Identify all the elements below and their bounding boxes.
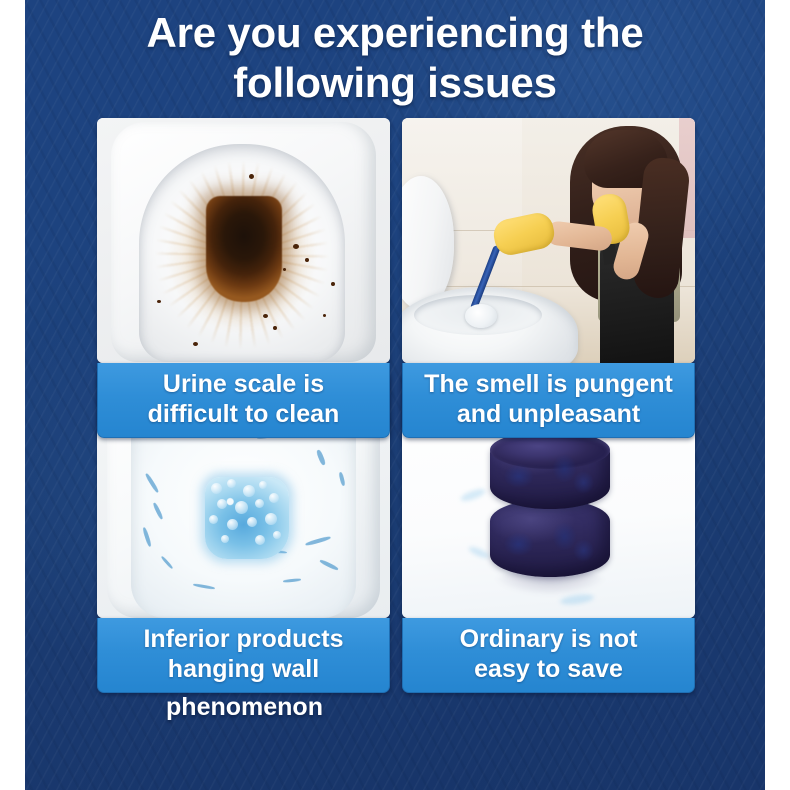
background-smudge [468, 545, 491, 560]
foam-bubble [269, 493, 279, 503]
foam-bubble [211, 483, 222, 494]
issue-card-bad-smell[interactable]: The smell is pungent and unpleasant [402, 118, 695, 363]
issue-card-grid: Urine scale is difficult to clean [97, 118, 695, 780]
stain-spot [273, 326, 277, 330]
stain-spot [331, 282, 335, 286]
cleaner-tablet-bottom [490, 499, 610, 577]
card-caption-bad-smell: The smell is pungent and unpleasant [402, 363, 695, 438]
headline-line-1: Are you experiencing the [25, 8, 765, 58]
foam-bubble [227, 519, 238, 530]
foam-bubble [217, 499, 227, 509]
foam-bubble [259, 481, 267, 489]
background-smudge [560, 593, 595, 607]
stain-spot [193, 342, 198, 346]
caption-line-2: easy to save [407, 654, 690, 684]
foam-bubble [235, 501, 248, 514]
headline-line-2: following issues [25, 58, 765, 108]
foam-bubble [247, 517, 257, 527]
stain-spot [305, 258, 309, 262]
caption-line-1: The smell is pungent [407, 369, 690, 399]
caption-line-1: Inferior products [102, 624, 385, 654]
foam-bubble [227, 479, 236, 488]
caption-line-1: Urine scale is [102, 369, 385, 399]
foam-bubble [273, 531, 281, 539]
card-caption-not-economical: Ordinary is not easy to save [402, 618, 695, 693]
card-caption-hanging-wall: Inferior products hanging wall phenomeno… [97, 618, 390, 693]
brown-urine-stain [206, 196, 282, 302]
caption-line-1: Ordinary is not [407, 624, 690, 654]
stained-toilet-bowl-photo [97, 118, 390, 363]
woman-holding-nose-photo [402, 118, 695, 363]
foam-bubble [209, 515, 218, 524]
toilet-brush-head [465, 304, 497, 328]
caption-line-2: difficult to clean [102, 399, 385, 429]
caption-line-2: hanging wall [102, 654, 385, 684]
caption-line-2: and unpleasant [407, 399, 690, 429]
issue-card-urine-scale[interactable]: Urine scale is difficult to clean [97, 118, 390, 363]
background-smudge [459, 487, 486, 503]
tablet-texture [490, 499, 610, 577]
foam-bubble [265, 513, 277, 525]
stain-spot [263, 314, 268, 318]
caption-overflow-line: phenomenon [98, 692, 391, 722]
stain-spot [293, 244, 299, 249]
stain-spot [283, 268, 286, 271]
stain-spot [249, 174, 254, 179]
foam-bubble [221, 535, 229, 543]
foam-bubble [243, 485, 255, 497]
stain-spot [323, 314, 326, 317]
card-caption-urine-scale: Urine scale is difficult to clean [97, 363, 390, 438]
promotional-poster: Are you experiencing the following issue… [0, 0, 790, 790]
page-title: Are you experiencing the following issue… [25, 8, 765, 108]
stain-spot [157, 300, 161, 303]
cleaner-tablet-top [490, 431, 610, 509]
foam-bubble [255, 499, 264, 508]
foam-bubble [255, 535, 265, 545]
